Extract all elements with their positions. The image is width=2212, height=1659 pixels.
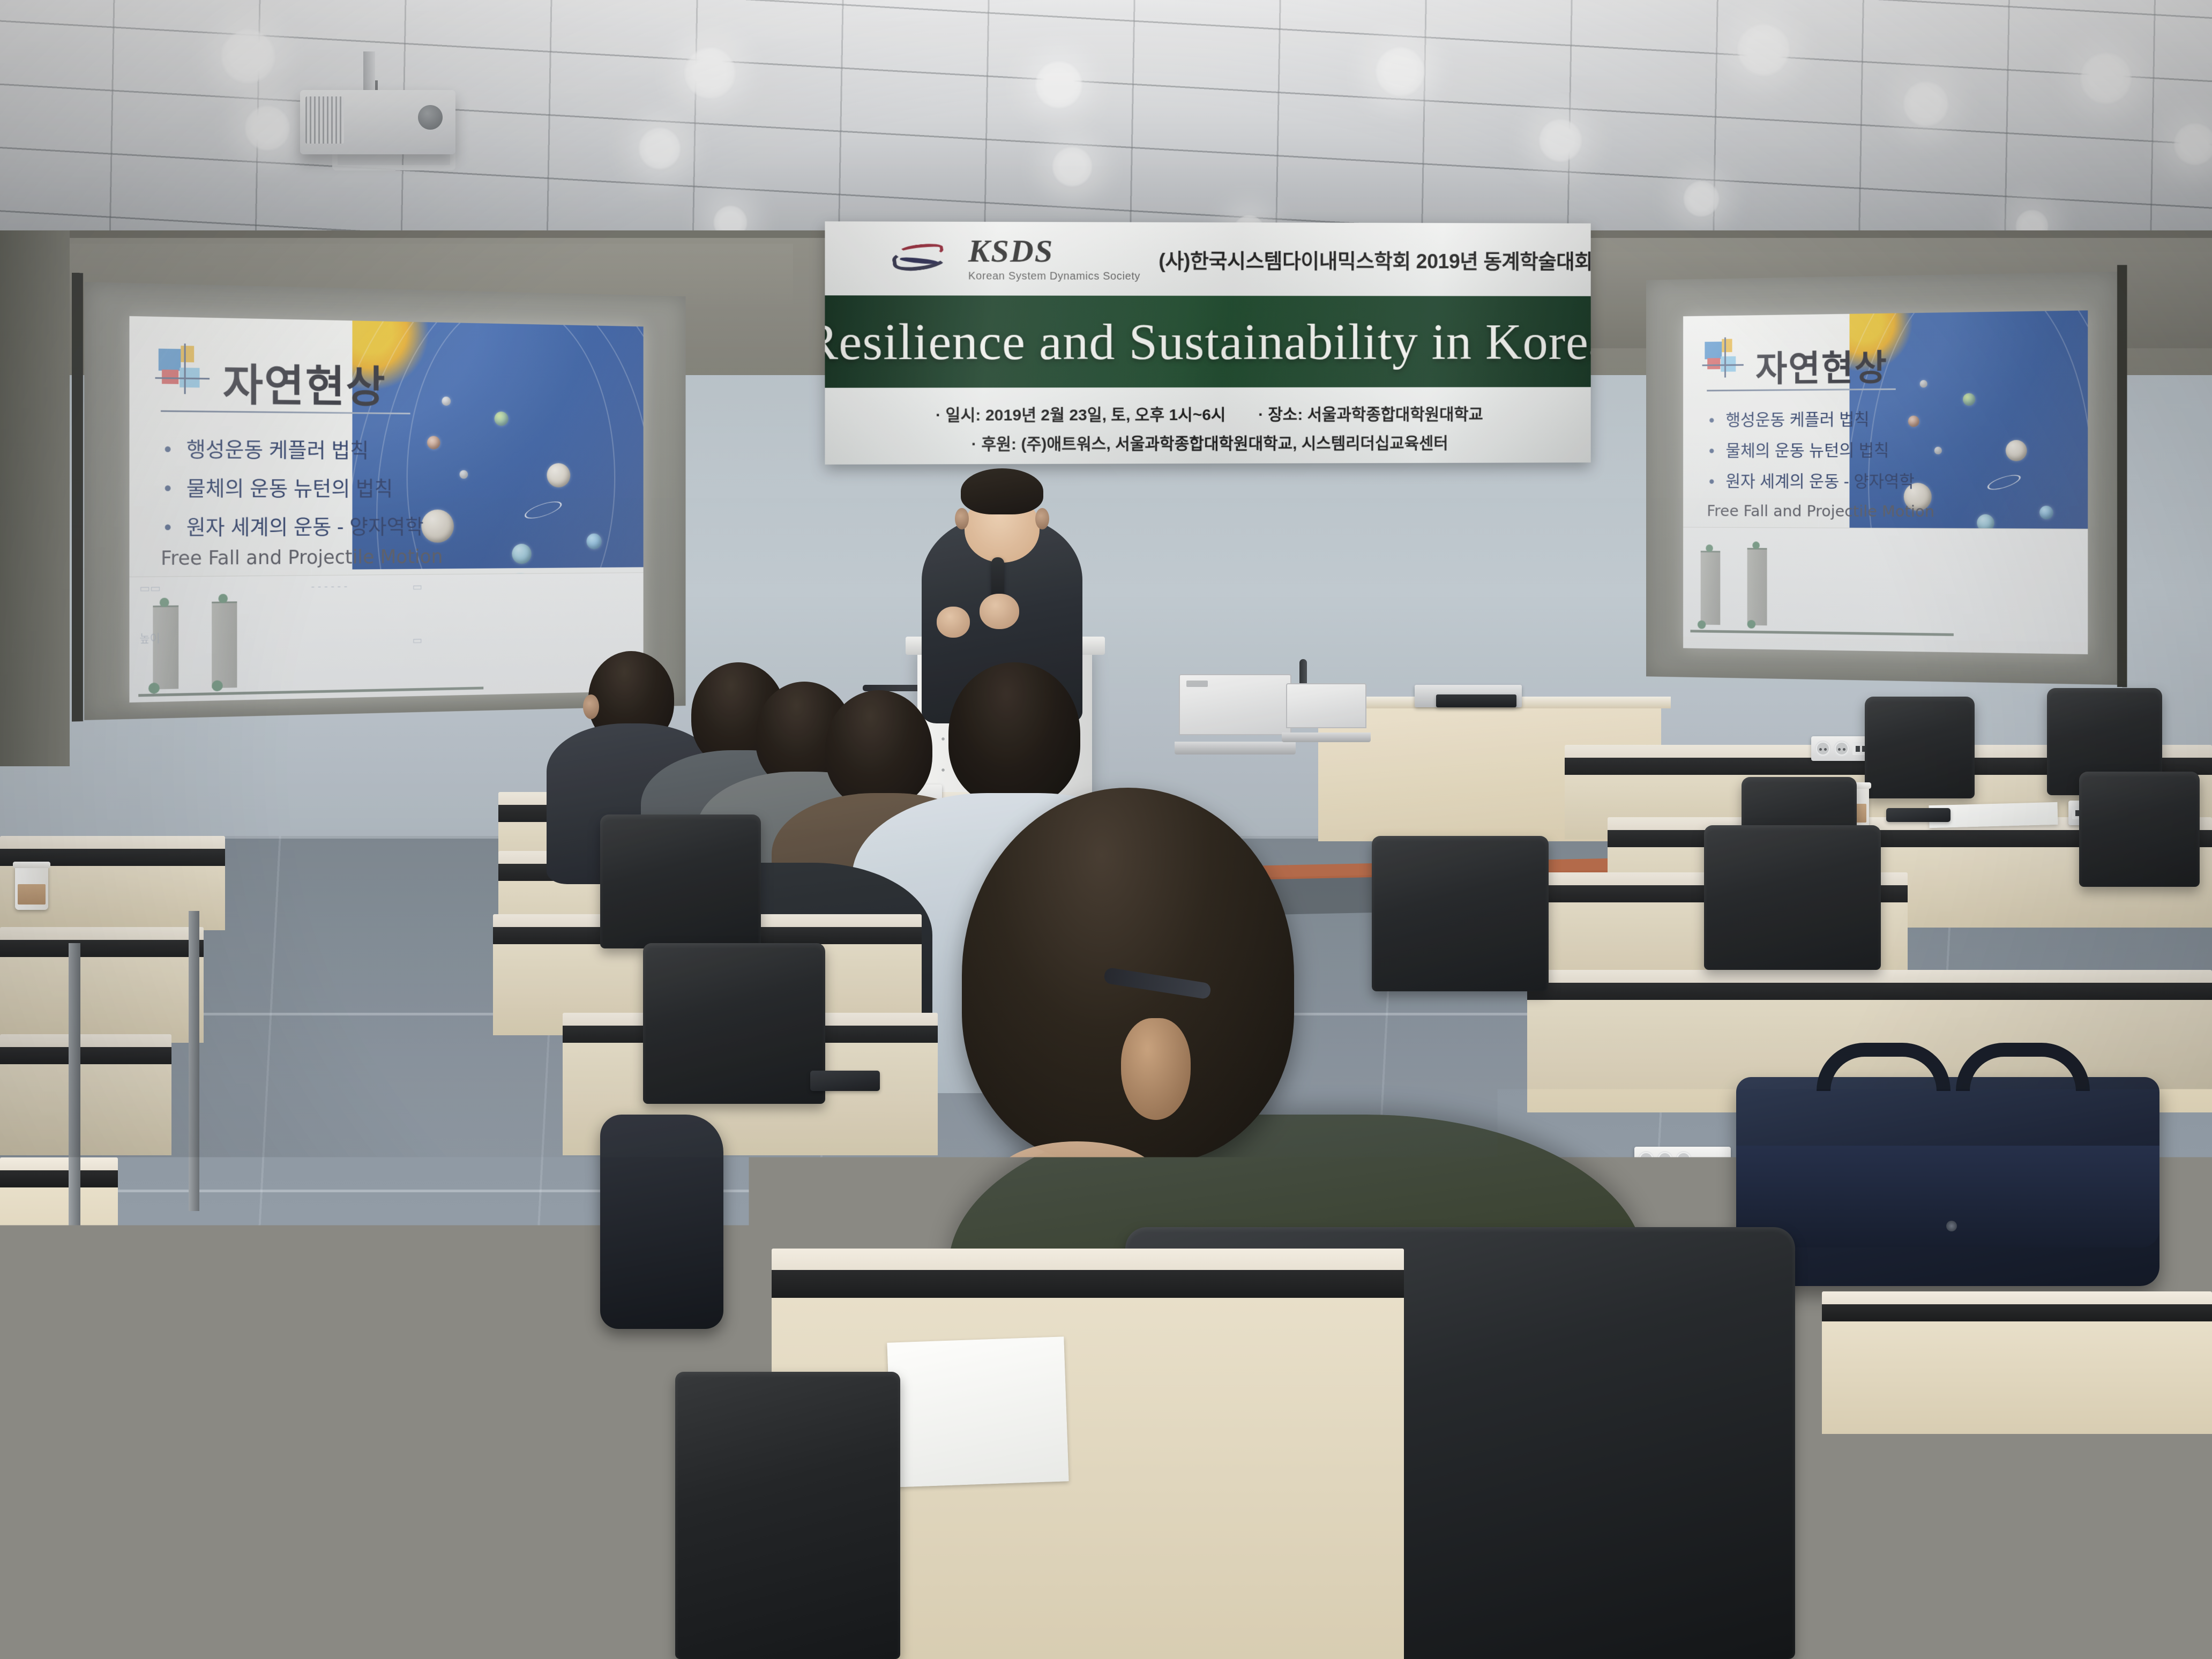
- banner-date-value: 2019년 2월 23일, 토, 오후 1시~6시: [985, 406, 1226, 424]
- speaker-hand-left: [937, 607, 970, 638]
- slide-bullet: 물체의 운동 뉴턴의 법칙: [1709, 437, 1915, 461]
- conference-room-photo: 자연현상 행성운동 케플러 법칙 물체의 운동 뉴턴의 법칙 원자 세계의 운동…: [0, 0, 2212, 1659]
- banner-venue-label: · 장소:: [1258, 406, 1303, 424]
- smartphone: [1886, 808, 1951, 822]
- desk-far-left-3: [0, 1034, 171, 1174]
- chair[interactable]: [1372, 836, 1549, 991]
- banner-info-strip: · 일시: 2019년 2월 23일, 토, 오후 1시~6시 · 장소: 서울…: [825, 387, 1590, 465]
- backpack-under-desk: [600, 1115, 723, 1329]
- desk-far-left-5: [0, 1340, 75, 1659]
- chair[interactable]: [1865, 697, 1975, 798]
- slide-bullet: 원자 세계의 운동 - 양자역학: [164, 510, 423, 541]
- slide-left: 자연현상 행성운동 케플러 법칙 물체의 운동 뉴턴의 법칙 원자 세계의 운동…: [129, 316, 643, 703]
- slide-bullet: 원자 세계의 운동 - 양자역학: [1709, 468, 1915, 492]
- laptop-secondary: [1286, 683, 1366, 742]
- chair[interactable]: [2079, 772, 2200, 887]
- slide-bullet-list: 행성운동 케플러 법칙 물체의 운동 뉴턴의 법칙 원자 세계의 운동 - 양자…: [1709, 406, 1915, 499]
- ksds-abbrev: KSDS: [968, 235, 1140, 267]
- attendee-foreground-ear: [1121, 1018, 1191, 1120]
- attendee-foreground-neck: [997, 1141, 1157, 1211]
- slide-bullet: 행성운동 케플러 법칙: [164, 432, 423, 464]
- suspended-ceiling: [0, 0, 2212, 252]
- powerpoint-squares-logo: [1705, 339, 1741, 376]
- banner-title-strip: Resilience and Sustainability in Korea: [825, 296, 1590, 388]
- slide-subcaption: Free Fall and Projectile Motion: [161, 547, 443, 570]
- banner-datetime-venue: · 일시: 2019년 2월 23일, 토, 오후 1시~6시 · 장소: 서울…: [936, 401, 1483, 425]
- ear: [583, 694, 599, 719]
- slide-subcaption: Free Fall and Projectile Motion: [1707, 502, 1934, 520]
- banner-title: Resilience and Sustainability in Korea: [825, 312, 1590, 372]
- event-banner: KSDS Korean System Dynamics Society (사)한…: [825, 221, 1590, 465]
- chair[interactable]: [1704, 825, 1881, 970]
- handout-papers-foreground: [887, 1336, 1068, 1487]
- banner-venue-value: 서울과학종합대학원대학교: [1307, 406, 1483, 423]
- projection-screen-right: 자연현상 행성운동 케플러 법칙 물체의 운동 뉴턴의 법칙 원자 세계의 운동…: [1646, 272, 2117, 685]
- simulation-pane: [1683, 527, 2088, 642]
- power-outlet-module: [1634, 1147, 1731, 1171]
- slide-bullet: 물체의 운동 뉴턴의 법칙: [164, 472, 423, 502]
- laptop-on-av-cabinet: [1179, 674, 1291, 754]
- paper-cup: [15, 866, 48, 910]
- desk-leg: [189, 911, 199, 1211]
- ksds-full-name: Korean System Dynamics Society: [968, 270, 1140, 283]
- banner-sponsors: · 후원: (주)애트워스, 서울과학종합대학원대학교, 시스템리더십교육센터: [972, 430, 1448, 454]
- chair[interactable]: [600, 814, 761, 948]
- smartphone: [810, 1071, 880, 1091]
- slide-title: 자연현상: [223, 350, 386, 415]
- left-wall-return: [0, 230, 70, 766]
- banner-date-label: · 일시:: [936, 407, 981, 424]
- laptop-bag: [1736, 1077, 2159, 1286]
- desk-far-left-4: [0, 1157, 118, 1318]
- projection-screen-left: 자연현상 행성운동 케플러 법칙 물체의 운동 뉴턴의 법칙 원자 세계의 운동…: [84, 282, 685, 720]
- speaker-ear-left: [955, 508, 969, 529]
- slide-right: 자연현상 행성운동 케플러 법칙 물체의 운동 뉴턴의 법칙 원자 세계의 운동…: [1683, 310, 2088, 654]
- simulation-pane: ▭▭ 높이 - - - - - - ▭ ▭: [129, 572, 643, 703]
- banner-event-korean: (사)한국시스템다이내믹스학회 2019년 동계학술대회: [1159, 244, 1590, 274]
- ceiling-shading: [0, 0, 2212, 252]
- banner-header-strip: KSDS Korean System Dynamics Society (사)한…: [825, 221, 1590, 296]
- desk-row-far-right-front: [1822, 1291, 2212, 1452]
- chair[interactable]: [643, 943, 825, 1104]
- ksds-swirl-logo: [890, 242, 950, 275]
- slide-title: 자연현상: [1755, 339, 1888, 392]
- powerpoint-squares-logo: [159, 345, 206, 393]
- slide-bullet-list: 행성운동 케플러 법칙 물체의 운동 뉴턴의 법칙 원자 세계의 운동 - 양자…: [164, 432, 423, 549]
- speaker-hair: [961, 468, 1043, 514]
- slide-bullet: 행성운동 케플러 법칙: [1709, 406, 1915, 431]
- speaker-ear-right: [1035, 508, 1049, 529]
- av-device-dark: [1436, 694, 1516, 707]
- desk-leg: [69, 943, 80, 1254]
- chair[interactable]: [675, 1372, 900, 1659]
- speaker-hand-right: [980, 594, 1019, 629]
